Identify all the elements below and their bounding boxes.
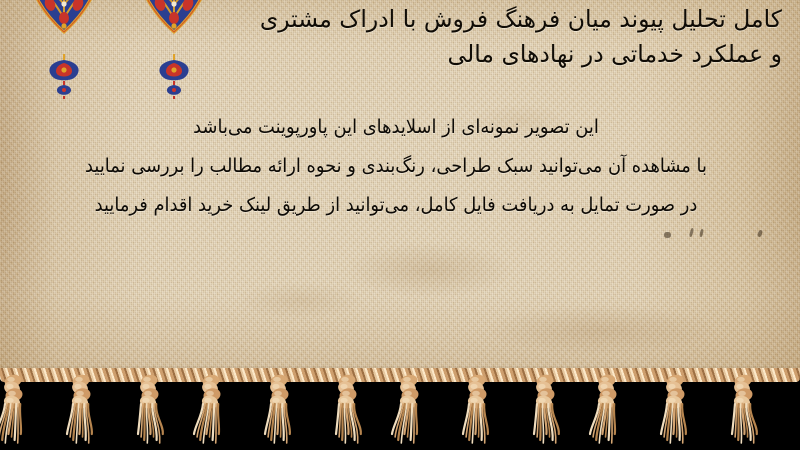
fringe-tassel <box>586 372 632 444</box>
fringe-tassel <box>388 372 434 444</box>
fringe-tassel <box>256 372 302 444</box>
tassel-icon <box>718 372 764 444</box>
carpet-fringe <box>0 370 800 450</box>
fringe-tassel <box>652 372 698 444</box>
medallion-pendant-drop-icon <box>154 54 194 100</box>
medallion-arabesque-icon <box>18 0 110 62</box>
fringe-tassel <box>718 372 764 444</box>
fringe-tassel <box>322 372 368 444</box>
body-line-1: این تصویر نمونه‌ای از اسلایدهای این پاور… <box>35 108 757 147</box>
tassel-icon <box>652 372 698 444</box>
medallion-pendant-drop-icon <box>44 54 84 100</box>
slide-canvas: کامل تحلیل پیوند میان فرهنگ فروش با ادرا… <box>0 0 800 450</box>
fringe-tassel <box>58 372 104 444</box>
tassel-icon <box>454 372 500 444</box>
tassel-icon <box>388 372 434 444</box>
tapestry-medallion-left <box>18 0 110 88</box>
title-line-1: کامل تحلیل پیوند میان فرهنگ فروش با ادرا… <box>198 2 782 37</box>
tassel-icon <box>586 372 632 444</box>
tassel-icon <box>0 372 38 444</box>
body-line-3: در صورت تمایل به دریافت فایل کامل، می‌تو… <box>35 186 757 225</box>
slide-title: کامل تحلیل پیوند میان فرهنگ فروش با ادرا… <box>198 2 782 72</box>
tassel-icon <box>190 372 236 444</box>
fringe-tassel <box>0 372 38 444</box>
fringe-tassel <box>124 372 170 444</box>
texture-speck <box>664 232 671 238</box>
tassel-icon <box>124 372 170 444</box>
tassel-icon <box>322 372 368 444</box>
title-line-2: و عملکرد خدماتی در نهادهای مالی <box>198 37 782 72</box>
body-line-2: با مشاهده آن می‌توانید سبک طراحی، رنگ‌بن… <box>35 147 757 186</box>
fringe-tassel <box>190 372 236 444</box>
slide-body-text: این تصویر نمونه‌ای از اسلایدهای این پاور… <box>12 108 780 225</box>
tassel-icon <box>58 372 104 444</box>
tassel-icon <box>256 372 302 444</box>
tassel-icon <box>520 372 566 444</box>
fringe-tassel <box>454 372 500 444</box>
fringe-tassel <box>520 372 566 444</box>
